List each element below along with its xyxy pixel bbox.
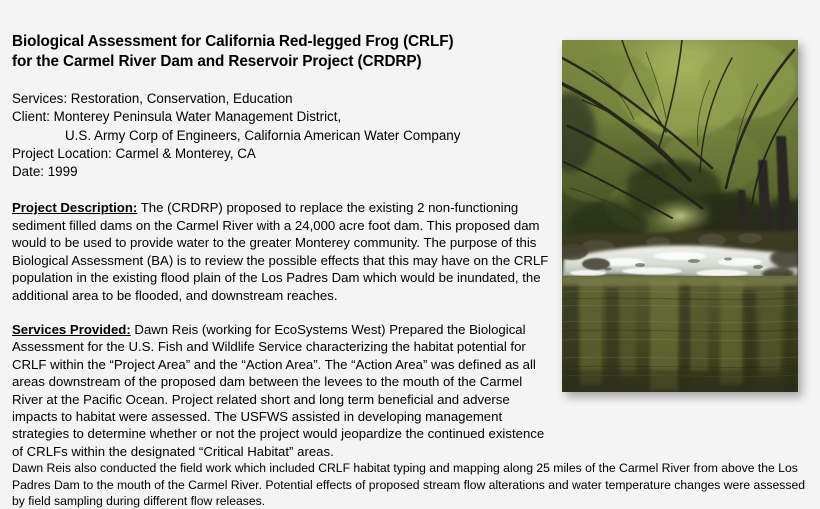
project-description-label: Project Description: bbox=[12, 200, 137, 215]
meta-date: Date: 1999 bbox=[12, 163, 552, 181]
project-description-section: Project Description: The (CRDRP) propose… bbox=[12, 199, 552, 303]
carmel-river-riparian-photo bbox=[562, 40, 798, 392]
meta-client-line-1: Client: Monterey Peninsula Water Managem… bbox=[12, 108, 552, 126]
project-meta-block: Services: Restoration, Conservation, Edu… bbox=[12, 90, 552, 181]
meta-project-location: Project Location: Carmel & Monterey, CA bbox=[12, 145, 552, 163]
meta-services: Services: Restoration, Conservation, Edu… bbox=[12, 90, 552, 108]
document-page: Biological Assessment for California Red… bbox=[0, 0, 820, 504]
closing-paragraph: Dawn Reis also conducted the field work … bbox=[12, 460, 808, 509]
services-provided-section: Services Provided: Dawn Reis (working fo… bbox=[12, 321, 552, 460]
page-title-line-2: for the Carmel River Dam and Reservoir P… bbox=[12, 53, 421, 70]
services-provided-body: Dawn Reis (working for EcoSystems West) … bbox=[12, 322, 544, 459]
page-title-line-1: Biological Assessment for California Red… bbox=[12, 33, 453, 50]
project-description-body: The (CRDRP) proposed to replace the exis… bbox=[12, 200, 548, 302]
page-title: Biological Assessment for California Red… bbox=[12, 32, 552, 71]
text-column: Biological Assessment for California Red… bbox=[12, 32, 552, 473]
carmel-river-riparian-photo-image bbox=[562, 40, 798, 392]
services-provided-label: Services Provided: bbox=[12, 322, 131, 337]
meta-client-line-2: U.S. Army Corp of Engineers, California … bbox=[12, 127, 552, 145]
